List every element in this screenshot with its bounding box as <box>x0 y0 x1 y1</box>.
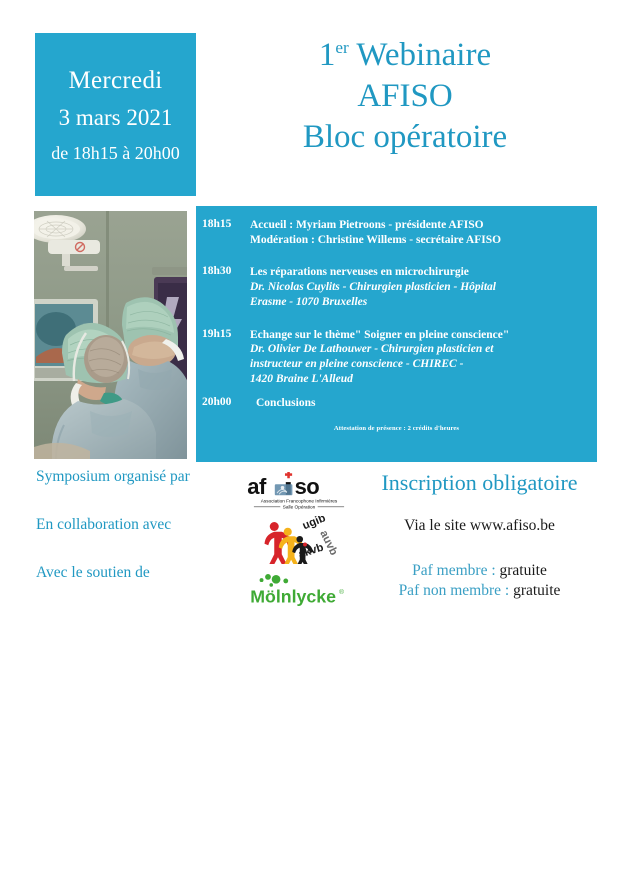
registration-title: Inscription obligatoire <box>352 470 607 496</box>
title-line-1: 1er Webinaire <box>205 36 605 75</box>
title-line-3: Bloc opératoire <box>205 118 605 157</box>
partner-logos: af so Association Francophone <box>240 470 358 610</box>
afiso-logo: af so Association Francophone <box>240 470 358 514</box>
afiso-sub1: Association Francophone Infirmières <box>261 498 338 504</box>
date-hours: de 18h15 à 20h00 <box>51 141 179 167</box>
molnlycke-wordmark: Mölnlycke <box>250 587 336 607</box>
date-box: Mercredi 3 mars 2021 de 18h15 à 20h00 <box>35 33 196 196</box>
program-line: 1420 Braine L'Alleud <box>250 372 597 387</box>
ugib-logo-mark: ugib auvb akvb <box>254 516 344 564</box>
label-organised-by: Symposium organisé par <box>36 468 236 514</box>
operating-room-illustration <box>34 211 187 459</box>
date-value: 3 mars 2021 <box>59 102 173 135</box>
fee-non-member-value: gratuite <box>513 582 560 599</box>
program-line: Erasme - 1070 Bruxelles <box>250 295 597 310</box>
ugib-word-top: ugib <box>301 516 328 532</box>
title-line-1-rest: Webinaire <box>356 37 491 73</box>
fee-member-value: gratuite <box>500 562 547 579</box>
program-row-time: 18h15 <box>202 218 231 230</box>
molnlycke-logo-mark: Mölnlycke ® <box>247 570 352 608</box>
svg-text:so: so <box>295 474 320 499</box>
program-row-lines: Les réparations nerveuses en microchirur… <box>250 265 597 309</box>
registration-block: Inscription obligatoire Via le site www.… <box>352 470 607 600</box>
label-support: Avec le soutien de <box>36 564 236 610</box>
svg-text:af: af <box>247 474 267 499</box>
afiso-sub2: Salle Opération <box>283 505 316 511</box>
partner-labels: Symposium organisé par En collaboration … <box>36 468 236 610</box>
program-line: Dr. Nicolas Cuylits - Chirurgien plastic… <box>250 280 597 295</box>
program-line: Accueil : Myriam Pietroons - présidente … <box>250 218 597 233</box>
program-row-lines: Conclusions <box>250 396 597 411</box>
program-line: Modération : Christine Willems - secréta… <box>250 233 597 248</box>
program-line: Conclusions <box>256 396 597 411</box>
fee-member-label: Paf membre : <box>412 562 496 579</box>
red-cross-icon <box>285 472 292 478</box>
program-row: 18h15 Accueil : Myriam Pietroons - prési… <box>202 218 597 247</box>
program-row-lines: Echange sur le thème" Soigner en pleine … <box>250 328 597 387</box>
program-row: 19h15 Echange sur le thème" Soigner en p… <box>202 328 597 387</box>
title-ordinal-number: 1 <box>319 37 336 73</box>
date-weekday: Mercredi <box>68 63 162 99</box>
afiso-logo-mark: af so Association Francophone <box>244 472 354 512</box>
program-line: Echange sur le thème" Soigner en pleine … <box>250 328 597 343</box>
operating-room-photo <box>34 211 187 459</box>
attestation-note: Attestation de présence : 2 crédits d'he… <box>196 425 597 432</box>
program-row-time: 20h00 <box>202 396 231 408</box>
fees-block: Paf membre : gratuite Paf non membre : g… <box>352 561 607 600</box>
program-row-time: 18h30 <box>202 265 231 277</box>
fee-non-member-row: Paf non membre : gratuite <box>352 581 607 600</box>
page-title: 1er Webinaire AFISO Bloc opératoire <box>205 36 605 157</box>
fee-non-member-label: Paf non membre : <box>399 582 510 599</box>
program-line: Dr. Olivier De Lathouwer - Chirurgien pl… <box>250 342 597 357</box>
program-panel: 18h15 Accueil : Myriam Pietroons - prési… <box>196 206 597 462</box>
label-collaboration: En collaboration avec <box>36 516 236 562</box>
poster-canvas: Mercredi 3 mars 2021 de 18h15 à 20h00 1e… <box>0 0 629 891</box>
program-line: Les réparations nerveuses en microchirur… <box>250 265 597 280</box>
fee-member-row: Paf membre : gratuite <box>352 561 607 580</box>
program-row: 18h30 Les réparations nerveuses en micro… <box>202 265 597 309</box>
title-ordinal-suffix: er <box>335 38 348 57</box>
registration-website[interactable]: Via le site www.afiso.be <box>352 517 607 535</box>
title-line-2: AFISO <box>205 77 605 116</box>
molnlycke-registered: ® <box>339 588 344 596</box>
program-row-lines: Accueil : Myriam Pietroons - présidente … <box>250 218 597 247</box>
program-line: instructeur en pleine conscience - CHIRE… <box>250 357 597 372</box>
ugib-auvb-akvb-logo: ugib auvb akvb <box>240 516 358 564</box>
program-row-time: 19h15 <box>202 328 231 340</box>
molnlycke-logo: Mölnlycke ® <box>240 568 358 610</box>
program-row: 20h00 Conclusions <box>202 396 597 411</box>
molnlycke-dots-icon <box>259 574 288 587</box>
